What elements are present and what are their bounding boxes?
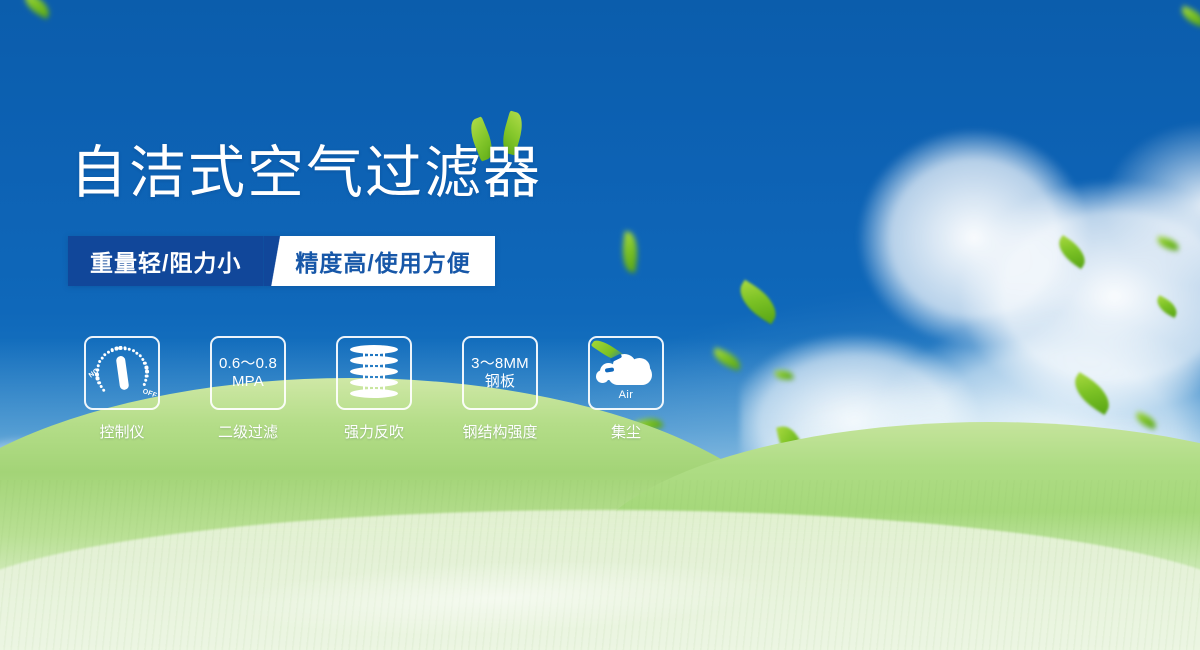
gauge-tick-dot [102, 388, 106, 392]
gauge-tick-dot [98, 360, 102, 364]
feature-item-controller[interactable]: NO OFF 控制仪 [74, 336, 170, 442]
gauge-tick-dot [110, 348, 114, 352]
cloud-body [608, 363, 652, 385]
banner-content: 自洁式空气过滤器 重量轻/阻力小 精度高/使用方便 NO OFF 控制仪 [0, 0, 1200, 650]
spring-ring [350, 389, 398, 398]
gauge-tick-dot [106, 350, 110, 354]
gauge-tick-dot [100, 356, 104, 360]
banner-title: 自洁式空气过滤器 [70, 145, 542, 202]
spring-ring [350, 356, 398, 365]
subtitle-right-text: 精度高/使用方便 [289, 236, 494, 286]
feature-icon-box: Air [588, 336, 664, 410]
gauge-tick-dot [142, 382, 146, 386]
gauge-needle [115, 356, 129, 391]
subtitle-left-text: 重量轻/阻力小 [68, 236, 263, 286]
pressure-icon: 0.6～0.8 MPA [219, 355, 277, 390]
feature-label: 集尘 [611, 421, 641, 442]
steel-material: 钢板 [471, 373, 529, 391]
feature-label: 控制仪 [99, 421, 144, 442]
pressure-value: 0.6～0.8 [219, 355, 277, 373]
feature-item-blowback[interactable]: 强力反吹 [326, 336, 422, 442]
feature-icon-box: 0.6～0.8 MPA [210, 336, 286, 410]
gauge-tick-dot [96, 364, 100, 368]
gauge-off-label: OFF [142, 388, 158, 400]
gauge-tick-dot [145, 370, 149, 374]
gauge-tick-dot [144, 365, 148, 369]
air-label: Air [596, 389, 656, 401]
gauge-tick-dot [127, 347, 131, 351]
spring-icon [350, 345, 398, 401]
banner-subtitle-bar: 重量轻/阻力小 精度高/使用方便 [68, 236, 495, 286]
spring-ring [350, 378, 398, 387]
feature-label: 钢结构强度 [462, 421, 537, 442]
gauge-tick-dot [114, 347, 118, 351]
subtitle-divider-wedge [263, 236, 289, 286]
spring-ring [350, 367, 398, 376]
spring-ring [350, 345, 398, 354]
feature-icon-box [336, 336, 412, 410]
steel-thickness: 3～8MM [471, 355, 529, 373]
feature-list: NO OFF 控制仪 0.6～0.8 MPA 二级过滤 [74, 336, 674, 442]
gauge-tick-dot [95, 372, 99, 376]
gauge-tick-dot [144, 378, 148, 382]
pressure-unit: MPA [219, 373, 277, 391]
product-banner: 自洁式空气过滤器 重量轻/阻力小 精度高/使用方便 NO OFF 控制仪 [0, 0, 1200, 650]
gauge-tick-dot [103, 353, 107, 357]
feature-label: 强力反吹 [344, 421, 404, 442]
air-cloud-icon: Air [596, 349, 656, 397]
feature-item-steel-strength[interactable]: 3～8MM 钢板 钢结构强度 [452, 336, 548, 442]
feature-icon-box: 3～8MM 钢板 [462, 336, 538, 410]
gauge-tick-dot [119, 346, 123, 350]
steel-plate-icon: 3～8MM 钢板 [471, 355, 529, 390]
gauge-tick-dot [123, 346, 127, 350]
feature-label: 二级过滤 [218, 421, 278, 442]
feature-icon-box: NO OFF [84, 336, 160, 410]
gauge-tick-dot [97, 381, 101, 385]
gauge-tick-dot [145, 374, 149, 378]
gauge-icon: NO OFF [87, 340, 156, 406]
feature-item-filtration[interactable]: 0.6～0.8 MPA 二级过滤 [200, 336, 296, 442]
feature-item-dust-collection[interactable]: Air 集尘 [578, 336, 674, 442]
gauge-tick-dot [96, 377, 100, 381]
